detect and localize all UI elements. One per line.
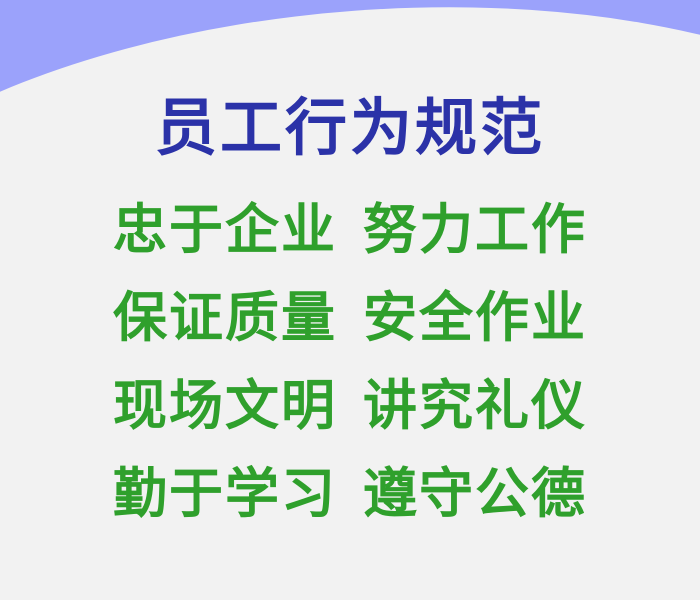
slogan-left: 现场文明 [113, 379, 337, 433]
poster-content: 员工行为规范 忠于企业 努力工作 保证质量 安全作业 现场文明 讲究礼仪 勤于学… [0, 0, 700, 600]
slogan-right: 遵守公德 [363, 467, 587, 521]
slogan-right: 努力工作 [363, 203, 587, 257]
slogan-row: 勤于学习 遵守公德 [0, 467, 700, 555]
slogan-left: 保证质量 [113, 291, 337, 345]
page-title: 员工行为规范 [0, 96, 700, 161]
slogan-left: 勤于学习 [113, 467, 337, 521]
slogan-right: 讲究礼仪 [363, 379, 587, 433]
slogan-right: 安全作业 [363, 291, 587, 345]
slogan-row: 现场文明 讲究礼仪 [0, 379, 700, 467]
slogan-left: 忠于企业 [113, 203, 337, 257]
slogan-row: 忠于企业 努力工作 [0, 203, 700, 291]
slogan-row: 保证质量 安全作业 [0, 291, 700, 379]
poster-canvas: 员工行为规范 忠于企业 努力工作 保证质量 安全作业 现场文明 讲究礼仪 勤于学… [0, 0, 700, 600]
slogan-list: 忠于企业 努力工作 保证质量 安全作业 现场文明 讲究礼仪 勤于学习 遵守公德 [0, 203, 700, 555]
